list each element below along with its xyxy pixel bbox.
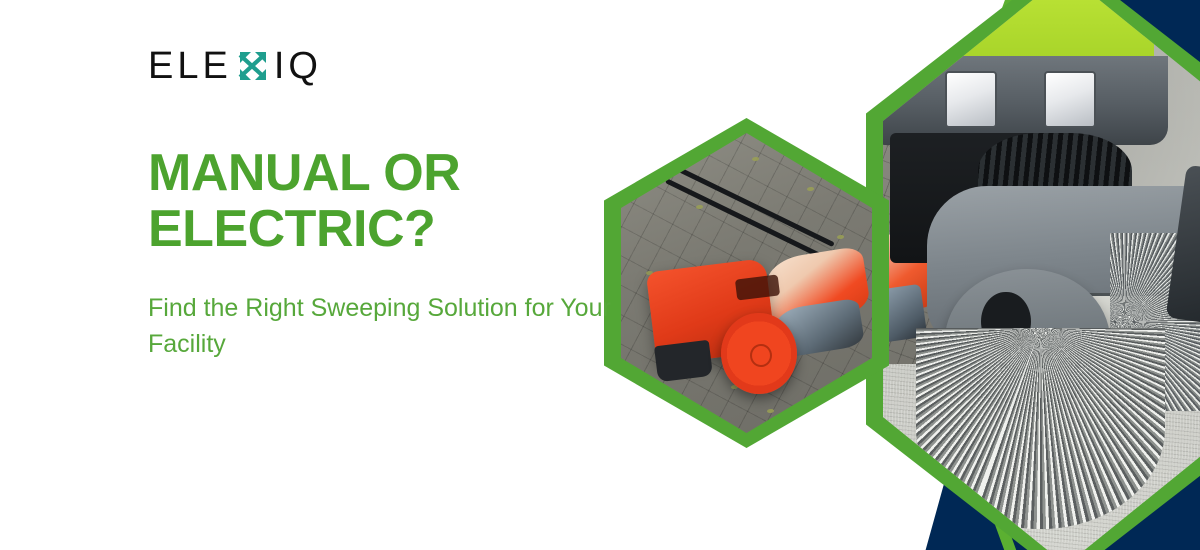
hexagon-image-electric-sweeper xyxy=(866,0,1200,550)
promo-banner: ELE IQ MANUAL OR ELECTRIC? xyxy=(0,0,1200,550)
logo-text-ele: ELE xyxy=(148,47,232,85)
hexagon-inner-manual xyxy=(621,133,872,433)
photo-sweeper-wheel xyxy=(721,313,796,394)
page-subtitle: Find the Right Sweeping Solution for You… xyxy=(148,291,618,362)
photo-headlamp-right xyxy=(1044,71,1096,128)
logo-text-iq: IQ xyxy=(274,47,322,85)
x-arrow-cross-icon xyxy=(233,46,273,86)
brand-logo[interactable]: ELE IQ xyxy=(148,44,322,88)
photo-side-brush-bristles xyxy=(916,328,1165,529)
hexagon-inner-electric xyxy=(883,0,1200,550)
photo-handle-bar-2 xyxy=(665,178,834,264)
photo-machine-bumper xyxy=(883,56,1168,145)
photo-headlamp-left xyxy=(945,71,997,128)
photo-manual-sweeper xyxy=(621,133,872,433)
hexagon-image-manual-sweeper xyxy=(604,118,889,448)
photo-electric-sweeper xyxy=(883,0,1200,550)
page-title: MANUAL OR ELECTRIC? xyxy=(148,146,588,257)
photo-sweeper-skirt xyxy=(654,340,713,382)
photo-handle-bar-1 xyxy=(670,163,835,247)
content-panel: ELE IQ MANUAL OR ELECTRIC? xyxy=(148,0,618,550)
